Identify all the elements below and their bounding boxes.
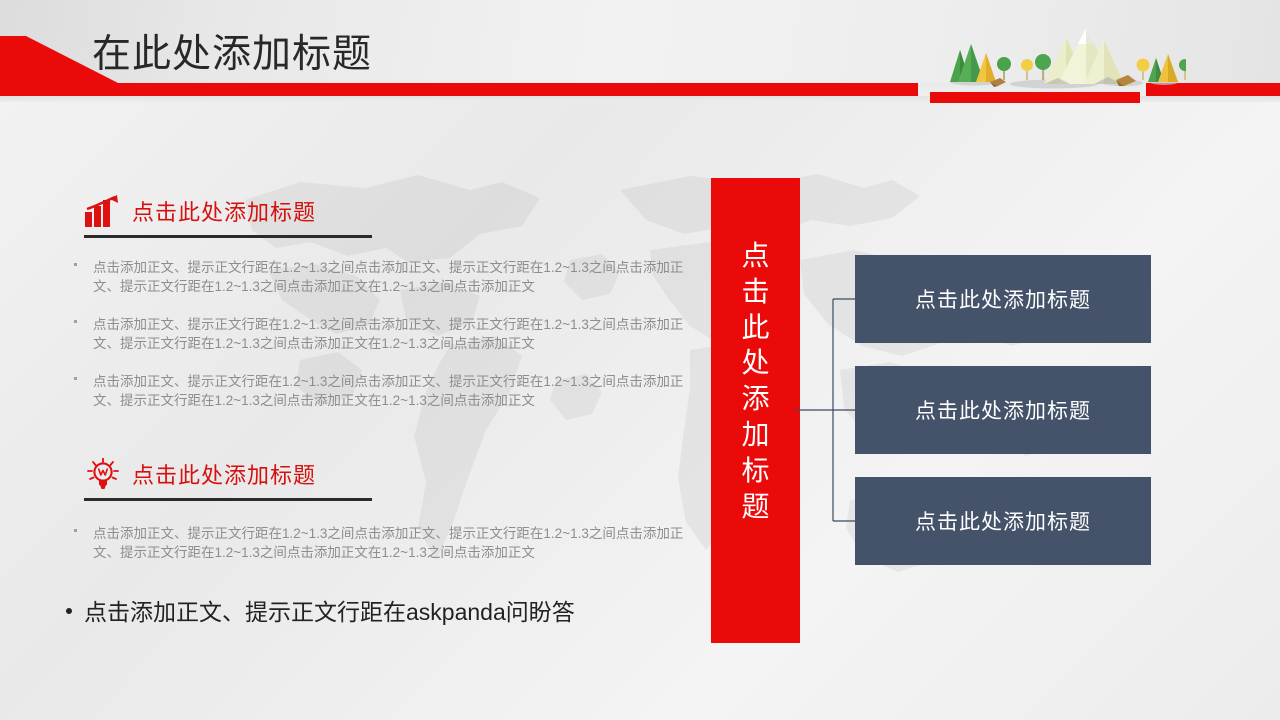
banner-char-1: 点: [711, 238, 800, 274]
right-box-1[interactable]: 点击此处添加标题: [855, 255, 1151, 343]
slide-canvas: 在此处添加标题: [0, 0, 1280, 720]
right-box-2-label: 点击此处添加标题: [915, 395, 1091, 425]
vertical-banner-text: 点 击 此 处 添 加 标 题: [711, 238, 800, 525]
section-heading-2-rule: [84, 498, 372, 501]
bullet-marker: [74, 263, 77, 266]
right-box-2[interactable]: 点击此处添加标题: [855, 366, 1151, 454]
banner-char-7: 标: [711, 453, 800, 489]
emphasis-line-text: 点击添加正文、提示正文行距在askpanda问盼答: [84, 599, 575, 625]
banner-char-8: 题: [711, 489, 800, 525]
bullet-item-2: 点击添加正文、提示正文行距在1.2~1.3之间点击添加正文、提示正文行距在1.2…: [74, 315, 686, 353]
right-box-1-label: 点击此处添加标题: [915, 284, 1091, 314]
vertical-red-banner[interactable]: 点 击 此 处 添 加 标 题: [711, 178, 800, 643]
bullet-marker: [74, 320, 77, 323]
bar-chart-growth-icon: [84, 195, 124, 229]
bullet-marker: [74, 377, 77, 380]
bullet-text: 点击添加正文、提示正文行距在1.2~1.3之间点击添加正文、提示正文行距在1.2…: [93, 524, 686, 562]
bullet-item-1: 点击添加正文、提示正文行距在1.2~1.3之间点击添加正文、提示正文行距在1.2…: [74, 258, 686, 296]
bullet-marker: [74, 529, 77, 532]
banner-char-2: 击: [711, 274, 800, 310]
banner-char-6: 加: [711, 417, 800, 453]
low-poly-forest-landscape-icon: [918, 20, 1186, 92]
bullet-text: 点击添加正文、提示正文行距在1.2~1.3之间点击添加正文、提示正文行距在1.2…: [93, 315, 686, 353]
page-title: 在此处添加标题: [92, 23, 372, 79]
banner-char-3: 此: [711, 310, 800, 346]
bullet-item-4: 点击添加正文、提示正文行距在1.2~1.3之间点击添加正文、提示正文行距在1.2…: [74, 524, 686, 562]
bullet-text: 点击添加正文、提示正文行距在1.2~1.3之间点击添加正文、提示正文行距在1.2…: [93, 258, 686, 296]
lightbulb-idea-icon: [84, 458, 124, 492]
banner-char-4: 处: [711, 345, 800, 381]
right-box-3-label: 点击此处添加标题: [915, 506, 1091, 536]
header-band-notch-lower: [930, 92, 1140, 103]
right-box-3[interactable]: 点击此处添加标题: [855, 477, 1151, 565]
emphasis-bullet-marker: [66, 608, 72, 614]
banner-char-5: 添: [711, 381, 800, 417]
bullet-text: 点击添加正文、提示正文行距在1.2~1.3之间点击添加正文、提示正文行距在1.2…: [93, 372, 686, 410]
emphasis-line: 点击添加正文、提示正文行距在askpanda问盼答: [66, 593, 706, 627]
slide-header: 在此处添加标题: [0, 0, 1280, 100]
section-heading-1-rule: [84, 235, 372, 238]
bullet-item-3: 点击添加正文、提示正文行距在1.2~1.3之间点击添加正文、提示正文行距在1.2…: [74, 372, 686, 410]
section-heading-1-label: 点击此处添加标题: [132, 195, 316, 227]
section-heading-2-label: 点击此处添加标题: [132, 458, 316, 490]
